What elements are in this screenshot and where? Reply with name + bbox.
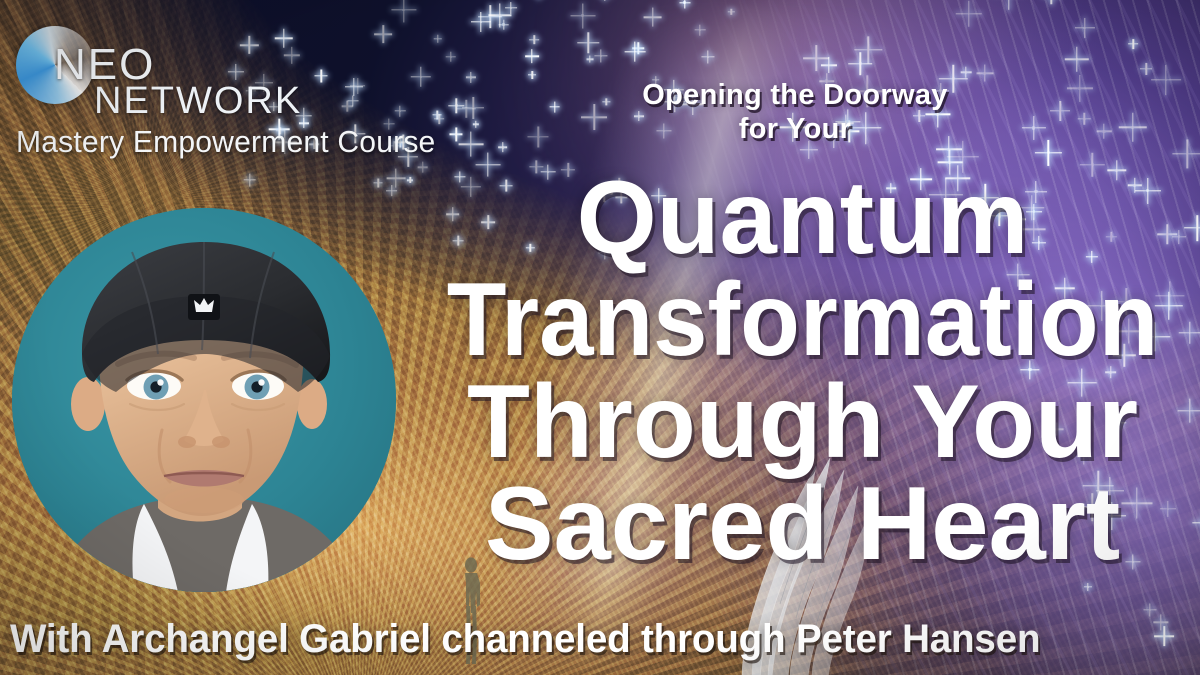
star-icon [868, 49, 870, 51]
headline-line-2: Transformation [438, 270, 1167, 372]
star-icon [983, 72, 986, 75]
star-icon [382, 33, 384, 35]
star-icon [487, 164, 489, 166]
star-icon [499, 14, 501, 16]
star-icon [377, 182, 379, 184]
star-icon [1197, 227, 1198, 228]
star-icon [472, 107, 474, 109]
star-icon [352, 100, 353, 101]
star-icon [1131, 126, 1134, 129]
star-icon [455, 104, 458, 107]
star-icon [1145, 68, 1147, 70]
star-icon [588, 42, 589, 43]
star-icon [510, 7, 512, 9]
star-icon [589, 58, 591, 60]
star-icon [968, 13, 970, 15]
star-icon [395, 177, 397, 179]
star-icon [1047, 151, 1050, 154]
star-icon [1078, 87, 1081, 90]
star-icon [502, 23, 504, 25]
star-icon [1083, 27, 1086, 30]
portrait-illustration [12, 208, 396, 592]
star-icon [357, 85, 359, 87]
headline-line-3: Through Your [419, 372, 1186, 474]
star-icon [480, 21, 482, 23]
star-icon [1133, 43, 1134, 44]
star-icon [652, 16, 653, 17]
headline-line-1: Quantum [419, 168, 1186, 270]
star-icon [962, 156, 965, 159]
star-icon [470, 144, 472, 146]
star-icon [808, 149, 809, 150]
star-icon [1032, 126, 1035, 129]
star-icon [1088, 586, 1089, 587]
star-icon [1059, 110, 1061, 112]
star-icon [554, 106, 555, 107]
star-icon [600, 55, 602, 57]
star-icon [531, 74, 533, 76]
star-icon [1186, 153, 1189, 156]
course-tagline: Mastery Empowerment Course [16, 124, 435, 160]
page-title: Quantum Transformation Through Your Sacr… [415, 168, 1190, 576]
star-icon [1149, 609, 1151, 611]
star-icon [409, 179, 410, 180]
brand-logo[interactable]: NEO NETWORK [8, 12, 348, 122]
star-icon [828, 65, 830, 67]
star-icon [1102, 130, 1105, 133]
star-icon [402, 9, 405, 12]
star-icon [420, 76, 422, 78]
star-icon [683, 1, 685, 3]
star-icon [1160, 622, 1162, 624]
headline-line-4: Sacred Heart [419, 474, 1186, 576]
star-icon [475, 123, 477, 125]
star-icon [947, 148, 949, 150]
star-icon [400, 111, 401, 112]
star-icon [437, 38, 438, 39]
star-icon [815, 57, 818, 60]
star-icon [531, 56, 532, 57]
star-icon [634, 51, 636, 53]
star-icon [455, 133, 457, 135]
star-icon [249, 179, 251, 181]
star-icon [466, 108, 467, 109]
star-icon [730, 11, 732, 13]
logo-word-network: NETWORK [94, 80, 302, 123]
star-icon [437, 114, 438, 115]
star-icon [1165, 79, 1168, 82]
star-icon [1076, 58, 1078, 60]
avatar [12, 208, 396, 592]
star-icon [353, 86, 354, 87]
star-icon [391, 190, 392, 191]
kicker-line-2: for Your [739, 113, 852, 145]
star-icon [537, 136, 540, 139]
star-icon [707, 56, 709, 58]
kicker-line-1: Opening the Doorway [642, 79, 947, 111]
star-icon [470, 76, 472, 78]
star-icon [859, 62, 862, 65]
star-icon [637, 48, 639, 50]
star-icon [965, 71, 968, 74]
star-icon [581, 14, 583, 16]
star-icon [489, 16, 491, 18]
star-icon [533, 39, 535, 41]
star-icon [439, 118, 440, 119]
course-promo-banner: NEO NETWORK Mastery Empowerment Course O… [0, 0, 1200, 675]
star-icon [1163, 635, 1165, 637]
star-icon [699, 29, 701, 31]
star-icon [502, 146, 504, 148]
star-icon [450, 56, 452, 58]
star-icon [1091, 163, 1094, 166]
presenter-byline: With Archangel Gabriel channeled through… [10, 617, 1081, 662]
headline-kicker: Opening the Doorway for Your [560, 78, 1030, 146]
star-icon [1083, 118, 1086, 121]
